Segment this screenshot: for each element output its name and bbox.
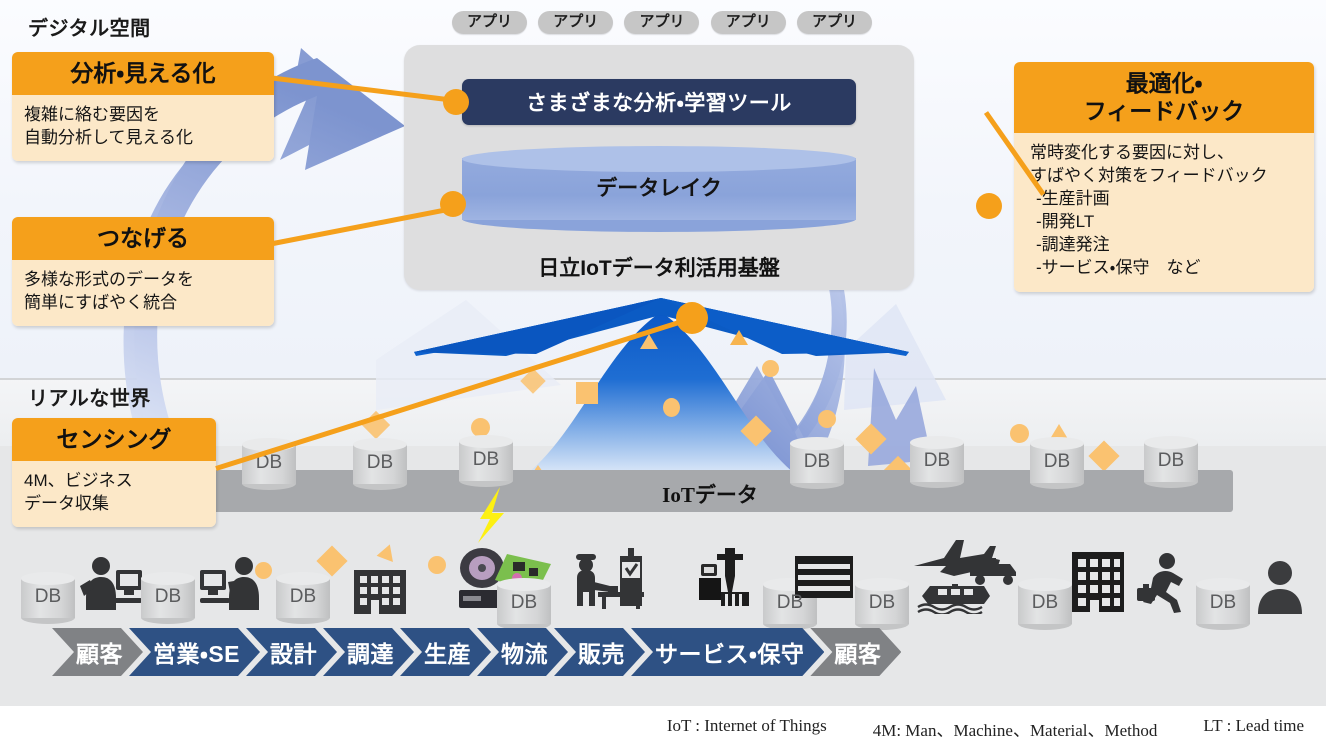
callout-analysis-line2: 自動分析して見える化 xyxy=(24,127,262,150)
business-person-running-icon xyxy=(1133,552,1189,614)
connector-knob-analysis xyxy=(443,89,469,115)
app-pill[interactable]: アプリ xyxy=(797,11,872,34)
db-label: DB xyxy=(141,586,195,608)
footer-legend: IoT : Internet of Things 4M: Man、Machine… xyxy=(0,716,1326,741)
db-cylinder: DB xyxy=(353,438,407,490)
db-cylinder: DB xyxy=(1196,578,1250,630)
app-pill[interactable]: アプリ xyxy=(452,11,527,34)
legend-lt: LT : Lead time xyxy=(1203,716,1304,741)
callout-connect-line1: 多様な形式のデータを xyxy=(24,269,262,292)
db-label: DB xyxy=(1030,451,1084,473)
office-building-icon xyxy=(1068,548,1128,614)
engineer-workstation-icon xyxy=(196,552,266,614)
callout-feedback-line2: すばやく対策をフィードバック xyxy=(1030,165,1304,188)
process-chevron-bar: 顧客 営業・SE 設計 調達 生産 物流 販売 サービス・保守 顧客 xyxy=(52,628,887,676)
db-cylinder: DB xyxy=(141,572,195,624)
connector-knob-sensing xyxy=(676,302,708,334)
db-label: DB xyxy=(763,592,817,614)
callout-feedback-item-1: -生産計画 xyxy=(1030,188,1304,211)
digital-space-label: デジタル空間 xyxy=(28,12,151,41)
sensor-spark-icon xyxy=(470,485,516,545)
db-label: DB xyxy=(353,452,407,474)
db-label: DB xyxy=(790,451,844,473)
db-label: DB xyxy=(21,586,75,608)
data-particle xyxy=(663,398,680,417)
callout-sensing[interactable]: センシング 4M、ビジネス データ収集 xyxy=(12,418,216,527)
data-particle xyxy=(375,544,393,564)
data-particle xyxy=(762,360,779,377)
callout-connect-line2: 簡単にすばやく統合 xyxy=(24,292,262,315)
callout-feedback-item-3: -調達発注 xyxy=(1030,234,1304,257)
process-step-sales-se[interactable]: 営業・SE xyxy=(129,628,260,676)
callout-sensing-line1: 4M、ビジネス xyxy=(24,470,204,493)
callout-sensing-title: センシング xyxy=(12,418,216,461)
data-lake-cylinder[interactable]: データレイク xyxy=(462,146,856,226)
db-cylinder: DB xyxy=(790,437,844,489)
callout-analysis-line1: 複雑に絡む要因を xyxy=(24,104,262,127)
process-step-service-maintenance[interactable]: サービス・保守 xyxy=(631,628,824,676)
callout-connect[interactable]: つなげる 多様な形式のデータを 簡単にすばやく統合 xyxy=(12,217,274,326)
callout-feedback-item-4: -サービス・保守 など xyxy=(1030,257,1304,280)
office-worker-icon xyxy=(76,552,146,614)
data-lake-top xyxy=(462,146,856,172)
callout-feedback-title: 最適化・ フィードバック xyxy=(1014,62,1314,133)
db-cylinder: DB xyxy=(1144,436,1198,488)
db-cylinder: DB xyxy=(855,578,909,630)
data-lake-label: データレイク xyxy=(462,172,856,202)
data-particle xyxy=(730,330,748,345)
analysis-tools-bar[interactable]: さまざまな分析・学習ツール xyxy=(462,79,856,125)
data-particle xyxy=(576,382,598,404)
callout-sensing-line2: データ収集 xyxy=(24,493,204,516)
real-world-label: リアルな世界 xyxy=(28,382,151,411)
callout-analysis[interactable]: 分析・見える化 複雑に絡む要因を 自動分析して見える化 xyxy=(12,52,274,161)
callout-feedback-line1: 常時変化する要因に対し、 xyxy=(1030,142,1304,165)
production-line-worker-icon xyxy=(570,548,658,614)
logistics-transport-icon xyxy=(910,538,1020,614)
data-particle xyxy=(818,410,836,428)
db-cylinder: DB xyxy=(1018,578,1072,630)
callout-analysis-title: 分析・見える化 xyxy=(12,52,274,95)
factory-building-icon xyxy=(350,566,410,614)
data-particle xyxy=(428,556,446,574)
callout-feedback-item-2: -開発LT xyxy=(1030,211,1304,234)
callout-feedback-title-line1: 最適化・ xyxy=(1020,69,1308,97)
diagram-canvas: アプリ アプリ アプリ アプリ アプリ さまざまな分析・学習ツール データレイク… xyxy=(0,0,1326,756)
db-cylinder: DB xyxy=(1030,437,1084,489)
db-label: DB xyxy=(1144,450,1198,472)
callout-feedback[interactable]: 最適化・ フィードバック 常時変化する要因に対し、 すばやく対策をフィードバック… xyxy=(1014,62,1314,292)
db-label: DB xyxy=(497,592,551,614)
legend-4m: 4M: Man、Machine、Material、Method xyxy=(873,716,1158,741)
callout-sensing-body: 4M、ビジネス データ収集 xyxy=(12,461,216,527)
platform-caption: 日立IoTデータ利活用基盤 xyxy=(404,252,914,282)
app-pill[interactable]: アプリ xyxy=(538,11,613,34)
db-label: DB xyxy=(1196,592,1250,614)
connector-knob-feedback xyxy=(976,193,1002,219)
db-label: DB xyxy=(855,592,909,614)
db-cylinder: DB xyxy=(276,572,330,624)
callout-connect-title: つなげる xyxy=(12,217,274,260)
db-label: DB xyxy=(1018,592,1072,614)
process-step-customer-start[interactable]: 顧客 xyxy=(52,628,143,676)
app-pill[interactable]: アプリ xyxy=(711,11,786,34)
connector-knob-connect xyxy=(440,191,466,217)
app-pill[interactable]: アプリ xyxy=(624,11,699,34)
customer-avatar-icon xyxy=(1254,560,1306,614)
db-label: DB xyxy=(459,449,513,471)
callout-connect-body: 多様な形式のデータを 簡単にすばやく統合 xyxy=(12,260,274,326)
db-cylinder: DB xyxy=(459,435,513,487)
db-cylinder: DB xyxy=(21,572,75,624)
callout-feedback-title-line2: フィードバック xyxy=(1020,97,1308,125)
db-cylinder: DB xyxy=(497,578,551,630)
db-label: DB xyxy=(910,450,964,472)
db-label: DB xyxy=(276,586,330,608)
app-pill-row: アプリ アプリ アプリ アプリ アプリ xyxy=(452,8,872,36)
db-cylinder: DB xyxy=(910,436,964,488)
legend-iot: IoT : Internet of Things xyxy=(667,716,827,741)
callout-analysis-body: 複雑に絡む要因を 自動分析して見える化 xyxy=(12,95,274,161)
callout-feedback-body: 常時変化する要因に対し、 すばやく対策をフィードバック -生産計画 -開発LT … xyxy=(1014,133,1314,292)
data-particle xyxy=(1010,424,1029,443)
